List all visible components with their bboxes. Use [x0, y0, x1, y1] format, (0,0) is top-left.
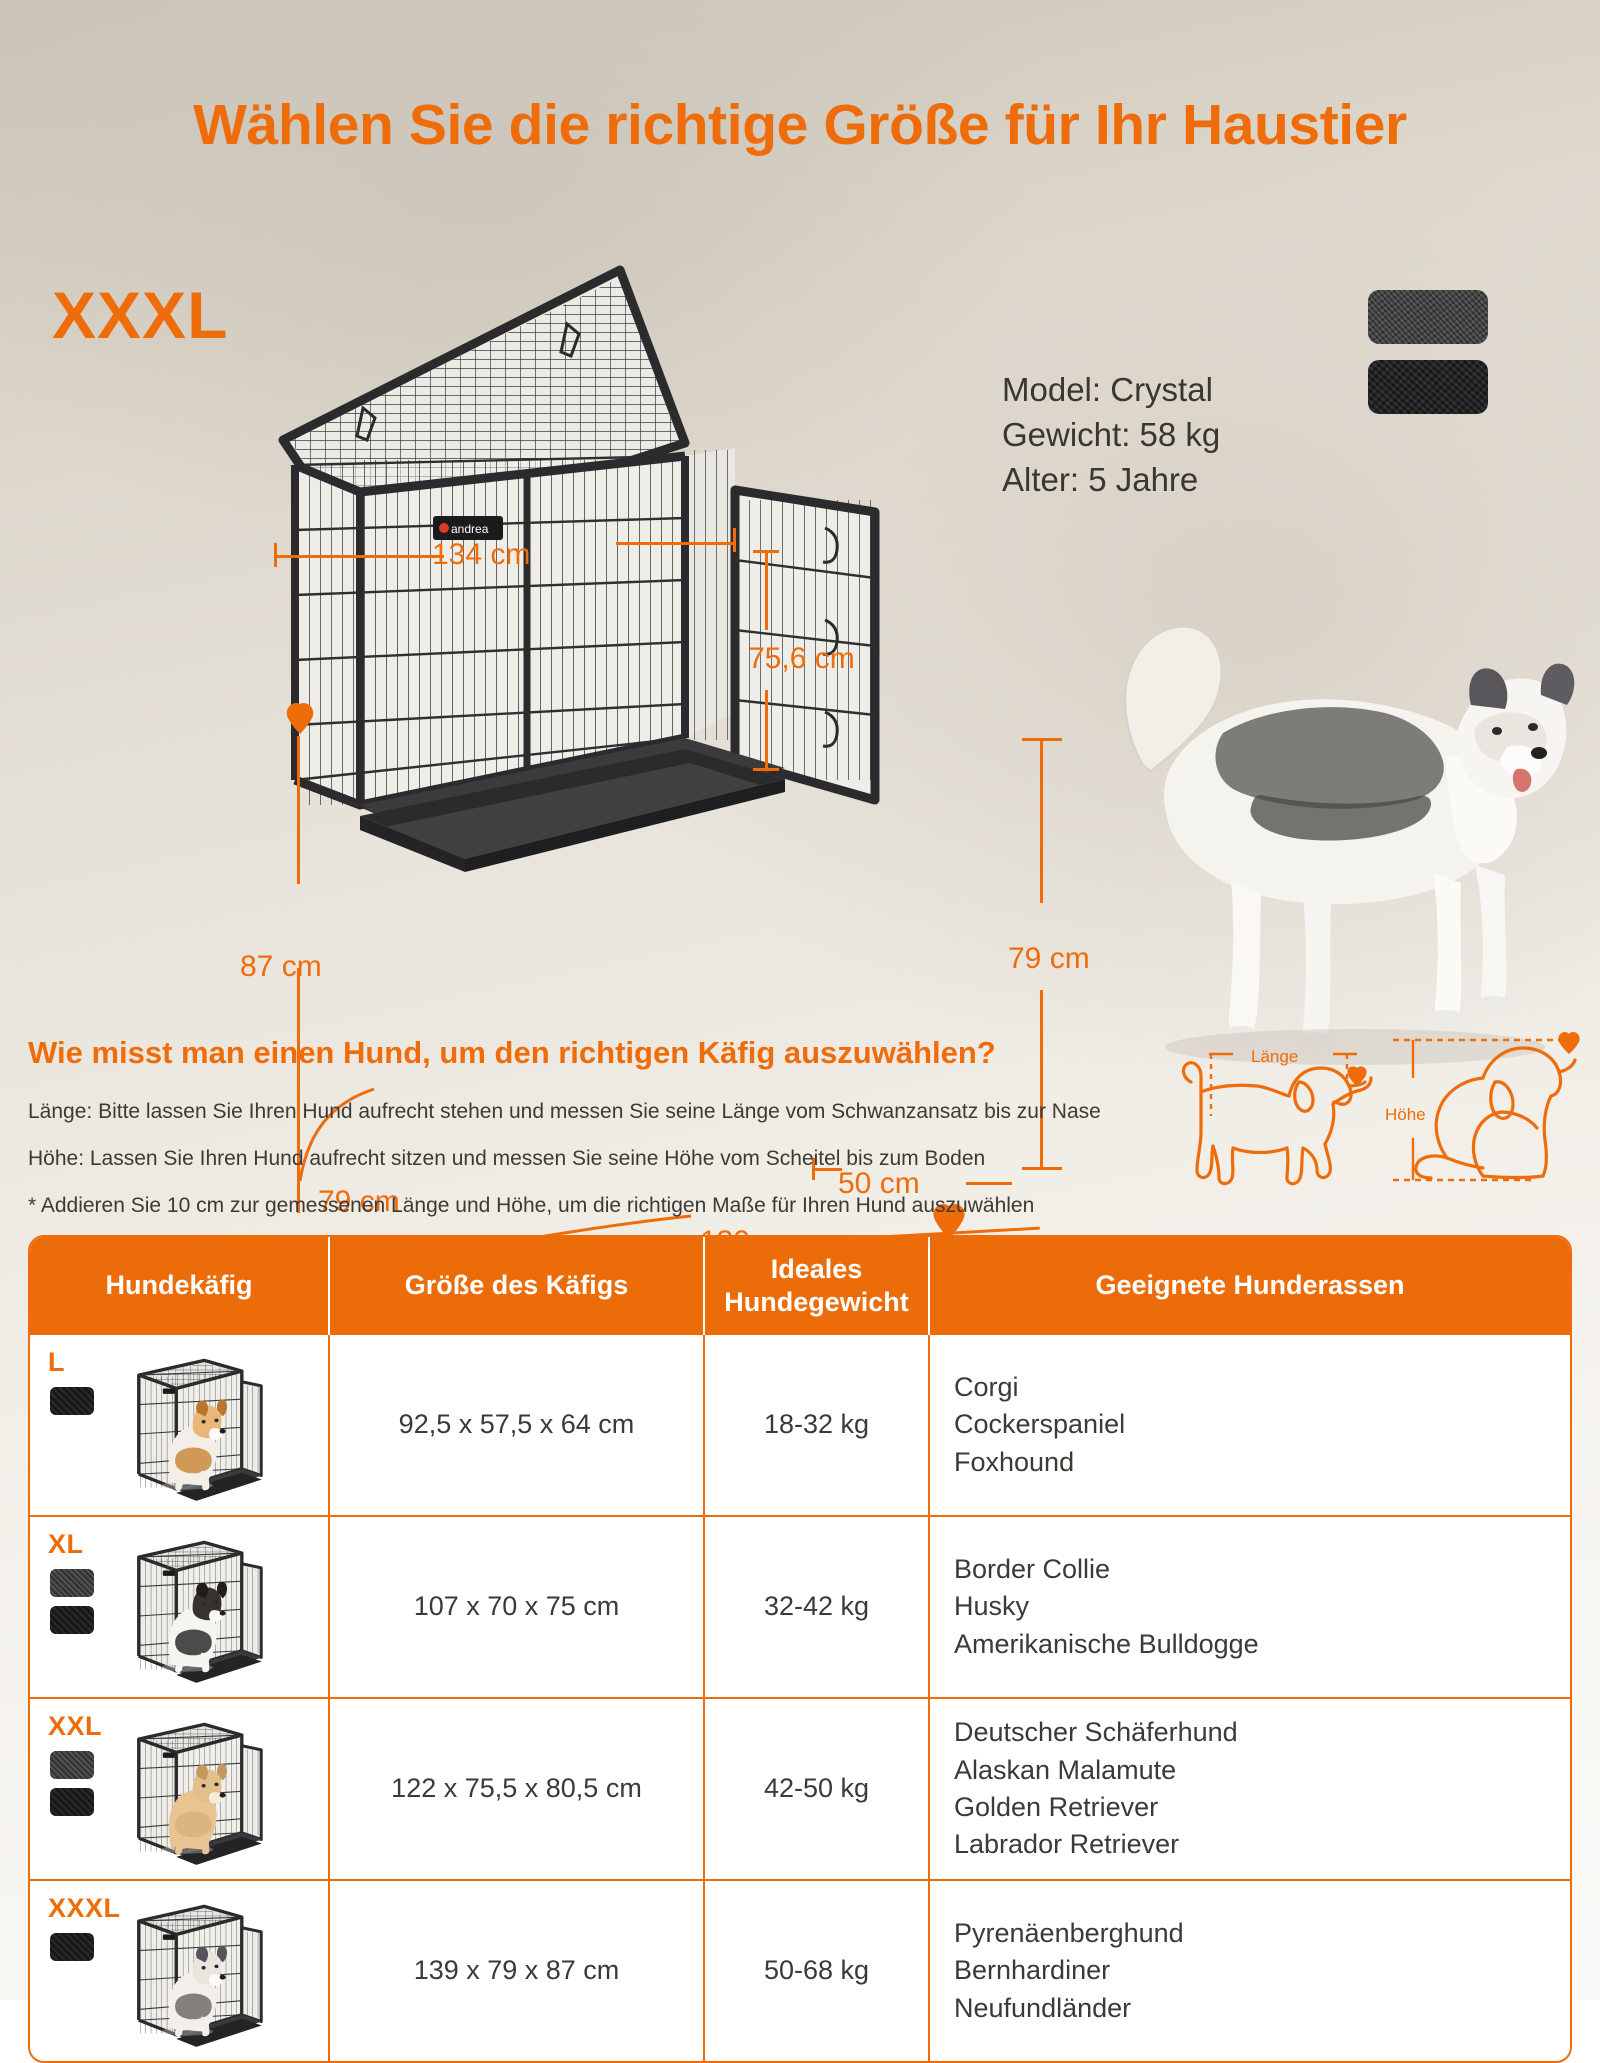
page-title: Wählen Sie die richtige Größe für Ihr Ha…	[0, 92, 1600, 158]
measuring-heading: Wie misst man einen Hund, um den richtig…	[28, 1035, 996, 1071]
row-color-chips	[50, 1933, 94, 1961]
hero-illustration: andrea	[0, 250, 1600, 1050]
dog-height-icon: Höhe	[1371, 1020, 1581, 1195]
table-body: L 92,5 x 57,5 x 64 cm	[30, 1335, 1570, 2061]
color-chip-black[interactable]	[50, 1606, 94, 1634]
row-color-chips	[50, 1387, 94, 1415]
measuring-icons: Länge	[1175, 1020, 1575, 1195]
row-color-chips	[50, 1569, 94, 1634]
dim-line-134-left	[274, 555, 444, 558]
table-cell-breeds: Deutscher SchäferhundAlaskan MalamuteGol…	[930, 1699, 1570, 1879]
color-chip-black[interactable]	[50, 1387, 94, 1415]
breed-name: Neufundländer	[954, 1990, 1184, 2027]
dog-length-icon-label: Länge	[1251, 1047, 1298, 1066]
dog-crate-image: andrea	[265, 260, 1025, 990]
dog-height-icon-label: Höhe	[1385, 1105, 1426, 1124]
table-row: L 92,5 x 57,5 x 64 cm	[30, 1335, 1570, 1515]
dim-line-87-upper	[297, 736, 300, 884]
table-header-weight-line1: Ideales	[771, 1254, 863, 1284]
breed-name: Labrador Retriever	[954, 1826, 1238, 1863]
row-size-label: XXXL	[48, 1893, 121, 1924]
dim-tick-756-bot	[753, 768, 779, 771]
dim-label-height-left: 87 cm	[240, 950, 322, 984]
breed-name: Pyrenäenberghund	[954, 1915, 1184, 1952]
table-cell-dimensions: 107 x 70 x 75 cm	[330, 1517, 705, 1697]
table-cell-breeds: Border CollieHuskyAmerikanische Bulldogg…	[930, 1517, 1570, 1697]
measuring-line-length: Länge: Bitte lassen Sie Ihren Hund aufre…	[28, 1088, 1101, 1135]
dim-label-depth-top: 75,6 cm	[748, 642, 855, 676]
table-row: XXL 122 x 75,5 x 80,5 cm	[30, 1697, 1570, 1879]
row-thumbnail	[114, 1715, 274, 1875]
row-color-chips	[50, 1751, 94, 1816]
dim-line-134-right	[616, 542, 736, 545]
breed-name: Corgi	[954, 1369, 1125, 1406]
table-cell-breeds: CorgiCockerspanielFoxhound	[930, 1335, 1570, 1515]
table-row: XXXL 139 x 79 x 87 cm	[30, 1879, 1570, 2061]
dog-in-crate-illustration	[148, 1935, 229, 2037]
breed-name: Alaskan Malamute	[954, 1752, 1238, 1789]
dim-tick-134-left	[274, 543, 277, 567]
table-header-weight: Ideales Hundegewicht	[705, 1237, 930, 1335]
breed-name: Deutscher Schäferhund	[954, 1714, 1238, 1751]
svg-text:andrea: andrea	[451, 522, 489, 536]
dog-in-crate-illustration	[148, 1389, 229, 1491]
table-cell-crate: XXL	[30, 1699, 330, 1879]
row-thumbnail	[114, 1897, 274, 2057]
table-cell-weight: 50-68 kg	[705, 1881, 930, 2061]
table-header-size: Größe des Käfigs	[330, 1237, 705, 1335]
table-cell-breeds: PyrenäenberghundBernhardinerNeufundlände…	[930, 1881, 1570, 2061]
color-chip-grey[interactable]	[50, 1751, 94, 1779]
table-cell-dimensions: 92,5 x 57,5 x 64 cm	[330, 1335, 705, 1515]
dog-in-crate-illustration	[148, 1571, 229, 1673]
table-header-weight-line2: Hundegewicht	[724, 1287, 909, 1317]
table-cell-weight: 32-42 kg	[705, 1517, 930, 1697]
row-size-label: XL	[48, 1529, 84, 1560]
table-row: XL 107 x 70 x 75 cm	[30, 1515, 1570, 1697]
row-thumbnail	[114, 1533, 274, 1693]
dim-label-width-top: 134 cm	[432, 538, 530, 572]
infographic-page: Wählen Sie die richtige Größe für Ihr Ha…	[0, 0, 1600, 2000]
breed-name: Husky	[954, 1588, 1259, 1625]
color-chip-black[interactable]	[50, 1933, 94, 1961]
row-thumbnail	[114, 1351, 274, 1511]
color-chip-grey[interactable]	[50, 1569, 94, 1597]
dim-tick-134-right	[733, 528, 736, 552]
dim-tick-756-top	[753, 550, 779, 553]
breed-name: Border Collie	[954, 1551, 1259, 1588]
table-cell-dimensions: 139 x 79 x 87 cm	[330, 1881, 705, 2061]
breed-name: Golden Retriever	[954, 1789, 1238, 1826]
measuring-line-height: Höhe: Lassen Sie Ihren Hund aufrecht sit…	[28, 1135, 1101, 1182]
brand-badge: andrea	[433, 516, 503, 540]
measuring-instructions: Länge: Bitte lassen Sie Ihren Hund aufre…	[28, 1088, 1101, 1229]
dim-line-756	[765, 550, 768, 630]
table-cell-crate: L	[30, 1335, 330, 1515]
dim-line-79r-upper	[1040, 738, 1043, 903]
dim-line-756-lower	[765, 690, 768, 770]
dog-photo	[1055, 495, 1575, 1065]
table-header-crate: Hundekäfig	[30, 1237, 330, 1335]
table-header-breeds: Geeignete Hunderassen	[930, 1237, 1570, 1335]
table-cell-weight: 42-50 kg	[705, 1699, 930, 1879]
breed-name: Amerikanische Bulldogge	[954, 1626, 1259, 1663]
row-size-label: XXL	[48, 1711, 102, 1742]
dog-in-crate-illustration	[148, 1753, 229, 1855]
row-size-label: L	[48, 1347, 65, 1378]
dim-arrow-up-87	[282, 702, 318, 736]
color-chip-black[interactable]	[50, 1788, 94, 1816]
measuring-line-note: * Addieren Sie 10 cm zur gemessenen Läng…	[28, 1182, 1101, 1229]
table-cell-weight: 18-32 kg	[705, 1335, 930, 1515]
table-cell-crate: XL	[30, 1517, 330, 1697]
table-header-row: Hundekäfig Größe des Käfigs Ideales Hund…	[30, 1237, 1570, 1335]
table-cell-crate: XXXL	[30, 1881, 330, 2061]
dog-length-icon: Länge	[1175, 1020, 1375, 1195]
size-comparison-table: Hundekäfig Größe des Käfigs Ideales Hund…	[28, 1235, 1572, 2063]
table-cell-dimensions: 122 x 75,5 x 80,5 cm	[330, 1699, 705, 1879]
breed-name: Foxhound	[954, 1444, 1125, 1481]
breed-name: Cockerspaniel	[954, 1406, 1125, 1443]
breed-name: Bernhardiner	[954, 1952, 1184, 1989]
